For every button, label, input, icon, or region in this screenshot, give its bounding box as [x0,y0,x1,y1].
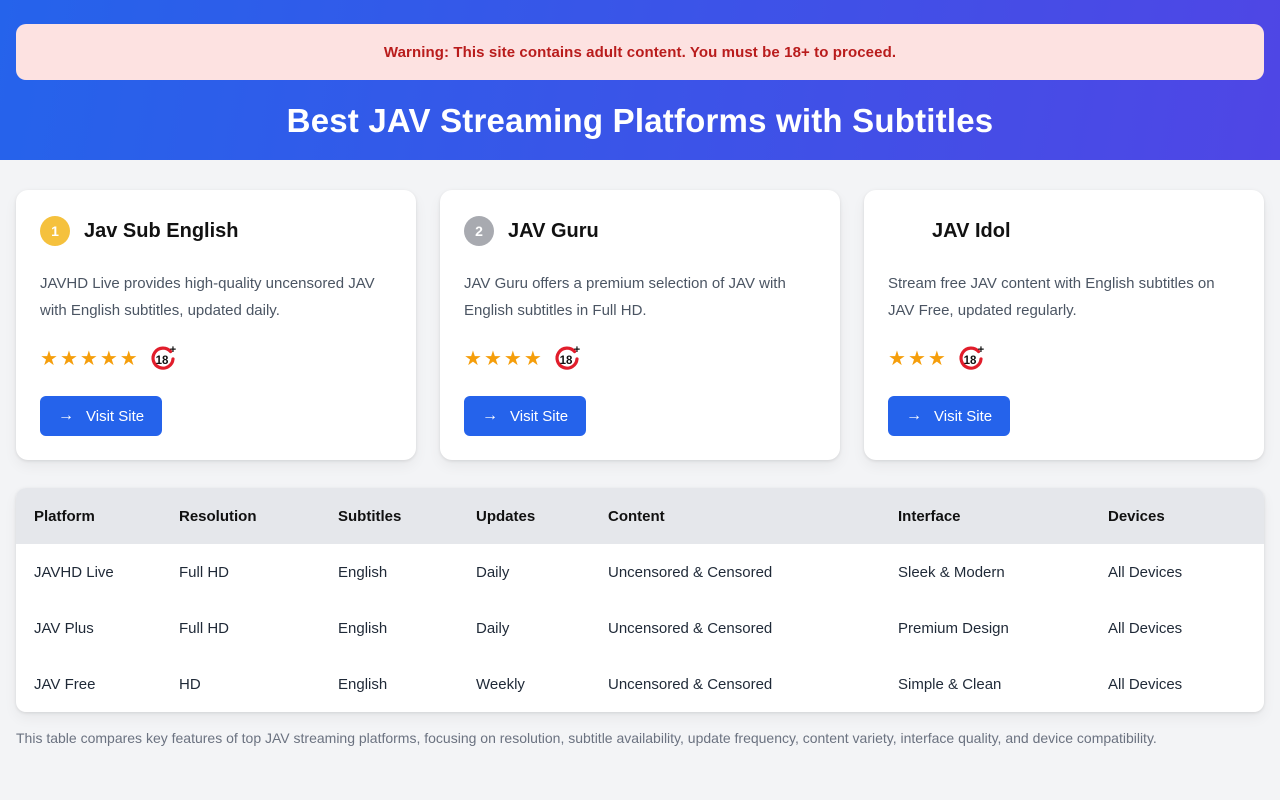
card-description: JAV Guru offers a premium selection of J… [464,270,804,324]
star-icon: ★ [464,349,482,369]
card-header: 1 Jav Sub English [40,214,392,248]
platform-card[interactable]: 2 JAV Guru JAV Guru offers a premium sel… [440,190,840,460]
rating-row: ★★★★ 18+ [464,344,816,374]
star-icon: ★ [504,349,522,369]
comparison-table: Platform Resolution Subtitles Updates Co… [16,488,1264,712]
column-header-devices[interactable]: Devices [1108,488,1264,544]
svg-text:+: + [574,344,580,356]
star-icon: ★ [80,349,98,369]
star-rating: ★★★ [888,349,946,369]
cell-devices: All Devices [1108,600,1264,656]
card-title: JAV Guru [508,220,599,243]
table-body: JAVHD Live Full HD English Daily Uncenso… [16,544,1264,712]
warning-text: Warning: This site contains adult conten… [384,44,896,61]
cell-updates: Daily [476,600,608,656]
rank-badge: 2 [464,216,494,246]
site-header: Warning: This site contains adult conten… [0,0,1280,160]
table-head: Platform Resolution Subtitles Updates Co… [16,488,1264,544]
visit-site-label: Visit Site [86,408,144,425]
age-18-plus-icon: 18+ [552,344,582,374]
cell-devices: All Devices [1108,656,1264,712]
cell-content: Uncensored & Censored [608,656,898,712]
star-icon: ★ [928,349,946,369]
table-row: JAVHD Live Full HD English Daily Uncenso… [16,544,1264,600]
card-description: JAVHD Live provides high-quality uncenso… [40,270,380,324]
cell-platform: JAV Plus [16,600,179,656]
star-icon: ★ [888,349,906,369]
table-row: JAV Free HD English Weekly Uncensored & … [16,656,1264,712]
star-rating: ★★★★★ [40,349,138,369]
comparison-table-container: Platform Resolution Subtitles Updates Co… [16,488,1264,712]
svg-text:18: 18 [559,355,572,367]
platform-card[interactable]: 1 Jav Sub English JAVHD Live provides hi… [16,190,416,460]
cell-platform: JAVHD Live [16,544,179,600]
column-header-content[interactable]: Content [608,488,898,544]
star-icon: ★ [60,349,78,369]
column-header-updates[interactable]: Updates [476,488,608,544]
column-header-platform[interactable]: Platform [16,488,179,544]
star-icon: ★ [100,349,118,369]
star-icon: ★ [908,349,926,369]
svg-text:18: 18 [963,355,976,367]
arrow-right-icon: → [906,407,922,425]
cell-resolution: Full HD [179,544,338,600]
cell-subtitles: English [338,600,476,656]
table-caption: This table compares key features of top … [16,726,1264,750]
arrow-right-icon: → [482,407,498,425]
cell-content: Uncensored & Censored [608,600,898,656]
card-title: JAV Idol [932,220,1011,243]
arrow-right-icon: → [58,407,74,425]
age-18-plus-icon: 18+ [956,344,986,374]
cell-interface: Premium Design [898,600,1108,656]
platform-card[interactable]: JAV Idol Stream free JAV content with En… [864,190,1264,460]
card-description: Stream free JAV content with English sub… [888,270,1228,324]
svg-text:+: + [169,344,175,356]
card-header: JAV Idol [888,214,1240,248]
cell-updates: Daily [476,544,608,600]
cell-content: Uncensored & Censored [608,544,898,600]
cell-interface: Simple & Clean [898,656,1108,712]
column-header-interface[interactable]: Interface [898,488,1108,544]
star-rating: ★★★★ [464,349,542,369]
card-title: Jav Sub English [84,220,238,243]
visit-site-label: Visit Site [510,408,568,425]
visit-site-button[interactable]: → Visit Site [464,396,586,436]
visit-site-label: Visit Site [934,408,992,425]
star-icon: ★ [40,349,58,369]
star-icon: ★ [120,349,138,369]
svg-text:18: 18 [155,355,168,367]
table-header-row: Platform Resolution Subtitles Updates Co… [16,488,1264,544]
page-title: Best JAV Streaming Platforms with Subtit… [16,80,1264,140]
star-icon: ★ [524,349,542,369]
adult-content-warning-banner: Warning: This site contains adult conten… [16,24,1264,80]
age-18-plus-icon: 18+ [148,344,178,374]
table-row: JAV Plus Full HD English Daily Uncensore… [16,600,1264,656]
cell-subtitles: English [338,544,476,600]
column-header-resolution[interactable]: Resolution [179,488,338,544]
cell-platform: JAV Free [16,656,179,712]
cell-subtitles: English [338,656,476,712]
cell-devices: All Devices [1108,544,1264,600]
cell-resolution: HD [179,656,338,712]
card-header: 2 JAV Guru [464,214,816,248]
column-header-subtitles[interactable]: Subtitles [338,488,476,544]
rank-badge: 1 [40,216,70,246]
svg-text:+: + [978,344,984,356]
cell-updates: Weekly [476,656,608,712]
platform-cards-row: 1 Jav Sub English JAVHD Live provides hi… [0,160,1280,460]
visit-site-button[interactable]: → Visit Site [40,396,162,436]
rating-row: ★★★★★ 18+ [40,344,392,374]
cell-resolution: Full HD [179,600,338,656]
star-icon: ★ [484,349,502,369]
cell-interface: Sleek & Modern [898,544,1108,600]
rating-row: ★★★ 18+ [888,344,1240,374]
visit-site-button[interactable]: → Visit Site [888,396,1010,436]
